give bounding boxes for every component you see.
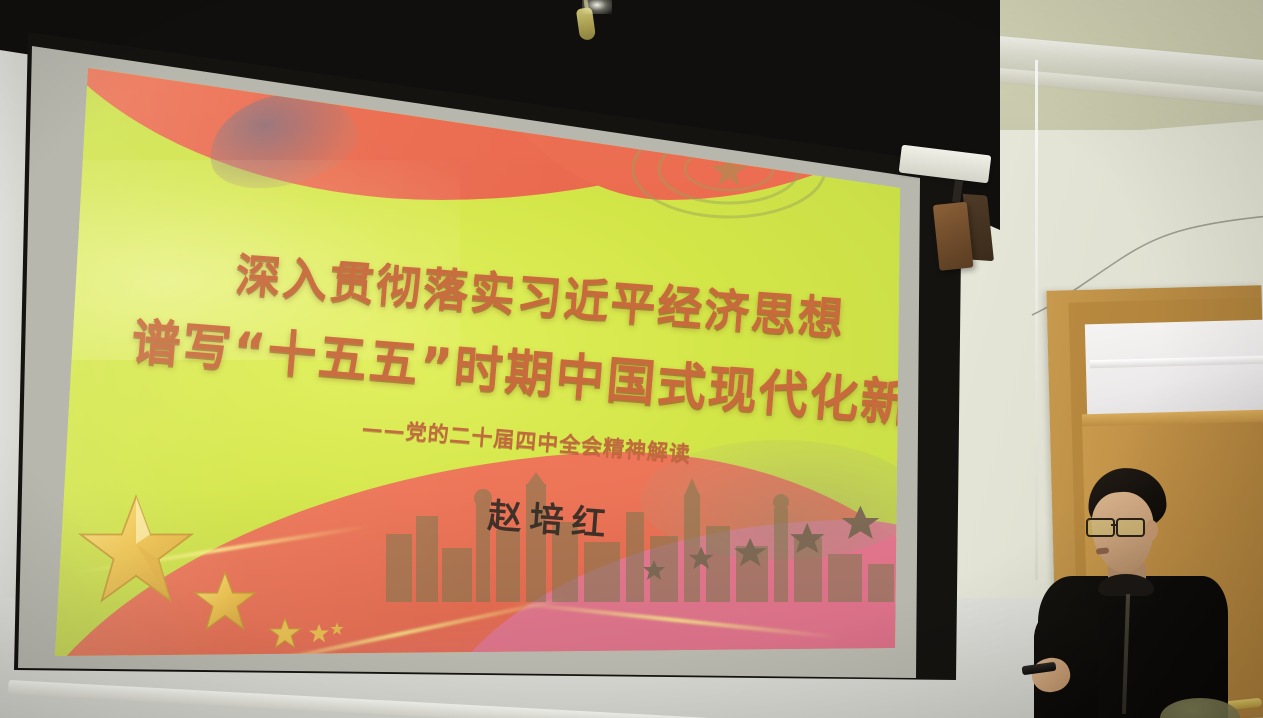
- speaker-bracket: [952, 180, 963, 203]
- speaker-front: [933, 202, 974, 271]
- ceiling-light-icon: [574, 0, 598, 46]
- slide-presenter-name: 赵培红: [486, 488, 615, 546]
- slide-subtitle: ——党的二十届四中全会精神解读: [361, 412, 692, 468]
- photo-scene: 深入贯彻落实习近平经济思想 谱写“十五五”时期中国式现代化新篇章 ——党的二十届…: [0, 0, 1263, 718]
- wall-speaker-icon: [932, 193, 998, 275]
- door-transom-window: [1085, 320, 1263, 417]
- presenter: [1010, 468, 1240, 718]
- presenter-glasses-icon: [1086, 518, 1152, 534]
- light-flare: [582, 0, 612, 14]
- glasses-lens-right: [1116, 518, 1145, 537]
- glasses-lens-left: [1086, 518, 1115, 537]
